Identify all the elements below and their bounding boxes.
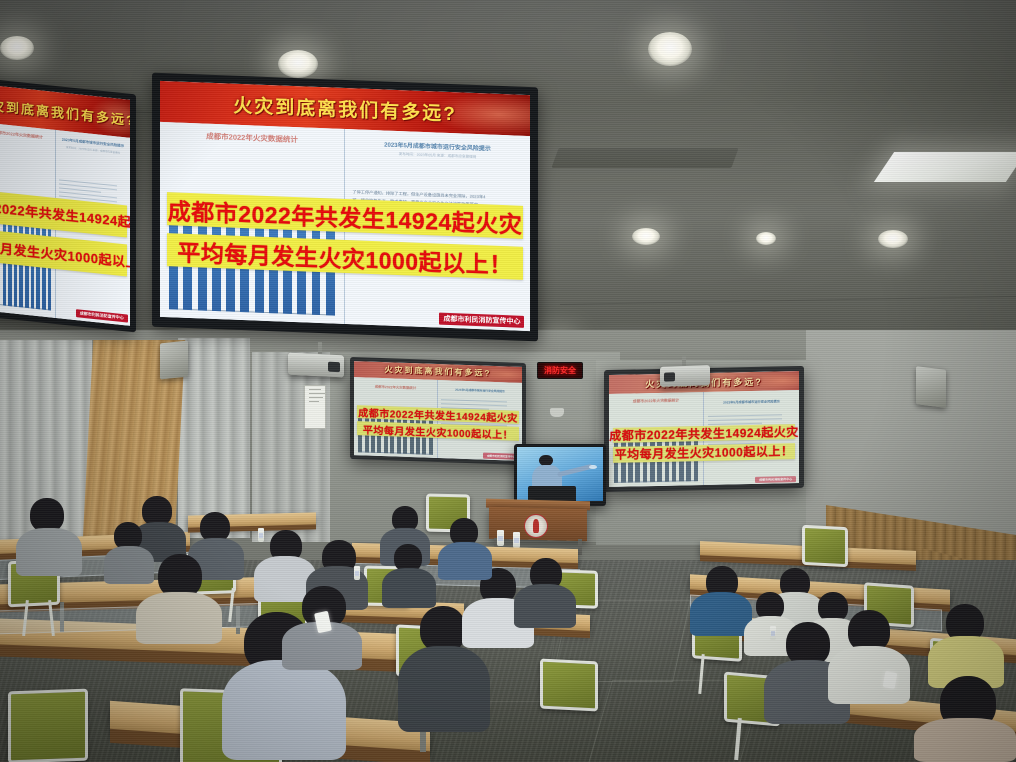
wall-speaker	[916, 366, 946, 408]
slide-watermark: 成都市利民消防宣传中心	[755, 476, 796, 483]
ceiling-downlight	[278, 50, 318, 78]
slide-left-panel-title: 成都市2022年火灾数据统计	[359, 383, 432, 391]
left-projection-screen[interactable]: 火灾到底离我们有多远? 成都市2022年火灾数据统计	[350, 357, 526, 465]
water-bottle	[354, 566, 360, 580]
ceiling-downlight	[632, 228, 660, 245]
slide-left-panel-title: 成都市2022年火灾数据统计	[165, 129, 339, 147]
water-bottle	[497, 530, 504, 546]
slide-headline-1-box: 成都市2022年共发生14924起火灾	[613, 424, 795, 444]
left-tv-screen[interactable]: 火灾到底离我们有多远? 成都市2022年火灾数据统计	[0, 78, 136, 333]
projector-mount	[682, 356, 686, 366]
podium-leg	[578, 539, 582, 555]
slide-headline-2-box: 平均每月发生火灾1000起以上！	[613, 443, 795, 463]
curtain-panel	[178, 338, 250, 538]
slide-right-panel-title: 2023年5月成都市城市运行安全风险提示	[443, 387, 517, 394]
notice-board	[304, 385, 326, 429]
slide-right-panel-title: 2023年5月成都市城市运行安全风险提示	[709, 398, 794, 405]
center-tv-screen[interactable]: 火灾到底离我们有多远? 成都市2022年火灾数据统计	[152, 73, 538, 342]
lecture-hall-photo: 火灾到底离我们有多远? 成都市2022年火灾数据统计	[0, 0, 1016, 762]
ceiling-downlight	[0, 36, 34, 60]
surveillance-camera-icon	[550, 408, 564, 417]
slide-banner-title: 火灾到底离我们有多远?	[233, 91, 457, 127]
ceiling-projector	[660, 365, 710, 387]
slide-left: 火灾到底离我们有多远? 成都市2022年火灾数据统计	[0, 84, 130, 326]
ceiling-slot	[551, 148, 738, 168]
slide-proj-left: 火灾到底离我们有多远? 成都市2022年火灾数据统计	[354, 361, 522, 461]
led-marquee-sign: 消防安全	[537, 362, 583, 379]
wall-speaker	[160, 341, 188, 380]
slide-left-panel-title: 成都市2022年火灾数据统计	[614, 398, 698, 405]
ceiling-downlight	[878, 230, 908, 248]
slide-banner-title: 火灾到底离我们有多远?	[0, 93, 130, 129]
projector-mount	[318, 342, 322, 354]
ceiling-downlight	[648, 32, 692, 66]
slide-proj-right: 火灾到底离我们有多远? 成都市2022年火灾数据统计	[609, 371, 799, 487]
fire-service-emblem-icon	[524, 514, 548, 538]
ceiling-downlight	[756, 232, 776, 245]
presenter-hand-icon	[589, 465, 597, 469]
slide-banner-title: 火灾到底离我们有多远?	[385, 365, 492, 380]
slide-left-panel-title: 成都市2022年火灾数据统计	[0, 129, 50, 142]
ceiling-projector	[288, 353, 344, 378]
slide-center: 火灾到底离我们有多远? 成都市2022年火灾数据统计	[160, 81, 530, 331]
presenter-arm-icon	[556, 463, 592, 476]
water-bottle	[258, 528, 264, 542]
water-bottle	[513, 532, 520, 548]
ceiling-panel-light	[874, 152, 1016, 182]
water-bottle	[770, 626, 776, 640]
